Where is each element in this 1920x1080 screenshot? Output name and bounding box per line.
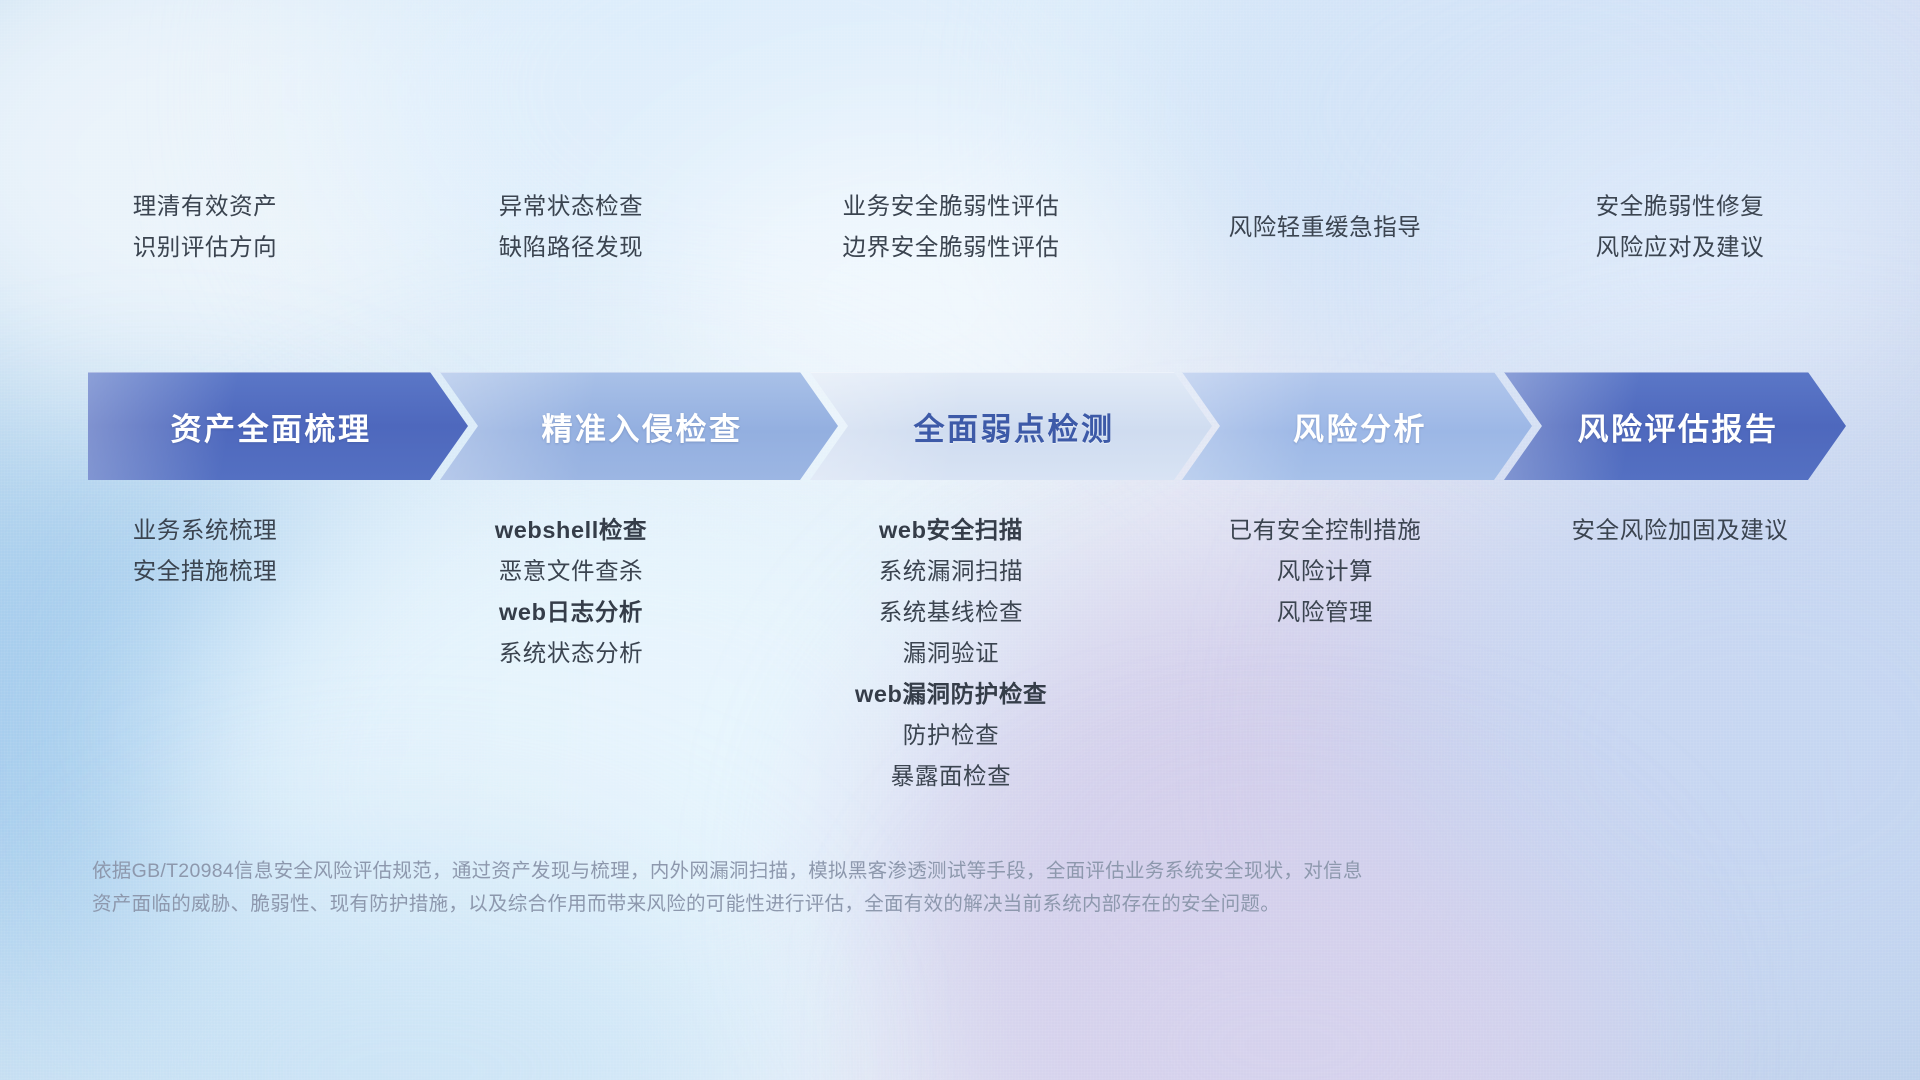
footer-line-2: 资产面临的威胁、脆弱性、现有防护措施，以及综合作用而带来风险的可能性进行评估，全… — [92, 888, 1512, 921]
stage-asset-inventory-detail-item: 业务系统梳理 — [5, 510, 405, 551]
stage-asset-inventory-top-item: 识别评估方向 — [5, 227, 405, 268]
stage-intrusion-check-top-item: 缺陷路径发现 — [371, 227, 771, 268]
footer-description: 依据GB/T20984信息安全风险评估规范，通过资产发现与梳理，内外网漏洞扫描，… — [92, 855, 1512, 921]
stage-asset-inventory-top-item: 理清有效资产 — [5, 186, 405, 227]
stage-weakness-detection-detail-item: 防护检查 — [751, 715, 1151, 756]
stage-risk-analysis-detail-item: 已有安全控制措施 — [1125, 510, 1525, 551]
stage-intrusion-check-detail-column: webshell检查恶意文件查杀web日志分析系统状态分析 — [371, 510, 771, 674]
stage-weakness-detection-detail-column: web安全扫描系统漏洞扫描系统基线检查漏洞验证web漏洞防护检查防护检查暴露面检… — [751, 510, 1151, 797]
stage-risk-report-top-column: 安全脆弱性修复风险应对及建议 — [1480, 186, 1880, 268]
stage-risk-analysis-top-item: 风险轻重缓急指导 — [1125, 207, 1525, 248]
stage-intrusion-check-detail-item: webshell检查 — [371, 510, 771, 551]
stage-risk-report-detail-column: 安全风险加固及建议 — [1480, 510, 1880, 551]
process-stage-label: 风险评估报告 — [1578, 404, 1779, 449]
stage-intrusion-check-detail-item: 系统状态分析 — [371, 633, 771, 674]
stage-weakness-detection-detail-item: 暴露面检查 — [751, 756, 1151, 797]
stage-risk-report-detail-item: 安全风险加固及建议 — [1480, 510, 1880, 551]
stage-intrusion-check-detail-item: 恶意文件查杀 — [371, 551, 771, 592]
stage-weakness-detection-detail-item: web安全扫描 — [751, 510, 1151, 551]
process-stage-risk-analysis[interactable]: 风险分析 — [1182, 372, 1532, 480]
stage-risk-analysis-detail-item: 风险管理 — [1125, 592, 1525, 633]
stage-asset-inventory-top-column: 理清有效资产识别评估方向 — [5, 186, 405, 268]
process-banner: 资产全面梳理精准入侵检查全面弱点检测风险分析风险评估报告 — [88, 372, 1846, 480]
stage-weakness-detection-detail-item: 漏洞验证 — [751, 633, 1151, 674]
stage-risk-report-top-item: 风险应对及建议 — [1480, 227, 1880, 268]
stage-intrusion-check-top-column: 异常状态检查缺陷路径发现 — [371, 186, 771, 268]
process-stage-risk-report[interactable]: 风险评估报告 — [1504, 372, 1846, 480]
process-stage-asset-inventory[interactable]: 资产全面梳理 — [88, 372, 468, 480]
stage-weakness-detection-top-column: 业务安全脆弱性评估边界安全脆弱性评估 — [751, 186, 1151, 268]
stage-intrusion-check-top-item: 异常状态检查 — [371, 186, 771, 227]
process-diagram: 理清有效资产识别评估方向异常状态检查缺陷路径发现业务安全脆弱性评估边界安全脆弱性… — [0, 0, 1920, 1080]
process-stage-weakness-detection[interactable]: 全面弱点检测 — [810, 372, 1212, 480]
stage-risk-analysis-detail-item: 风险计算 — [1125, 551, 1525, 592]
process-stage-label: 风险分析 — [1293, 404, 1427, 449]
process-stage-intrusion-check[interactable]: 精准入侵检查 — [440, 372, 838, 480]
stage-weakness-detection-detail-item: 系统漏洞扫描 — [751, 551, 1151, 592]
stage-asset-inventory-detail-item: 安全措施梳理 — [5, 551, 405, 592]
stage-risk-analysis-detail-column: 已有安全控制措施风险计算风险管理 — [1125, 510, 1525, 633]
stage-top-labels-row: 理清有效资产识别评估方向异常状态检查缺陷路径发现业务安全脆弱性评估边界安全脆弱性… — [90, 186, 1830, 286]
stage-intrusion-check-detail-item: web日志分析 — [371, 592, 771, 633]
process-stage-label: 资产全面梳理 — [171, 404, 372, 449]
stage-risk-report-top-item: 安全脆弱性修复 — [1480, 186, 1880, 227]
process-stage-label: 精准入侵检查 — [542, 404, 743, 449]
stage-weakness-detection-top-item: 边界安全脆弱性评估 — [751, 227, 1151, 268]
process-stage-label: 全面弱点检测 — [914, 404, 1115, 449]
stage-bottom-lists-row: 业务系统梳理安全措施梳理webshell检查恶意文件查杀web日志分析系统状态分… — [90, 510, 1830, 710]
stage-weakness-detection-detail-item: web漏洞防护检查 — [751, 674, 1151, 715]
stage-risk-analysis-top-column: 风险轻重缓急指导 — [1125, 207, 1525, 248]
footer-line-1: 依据GB/T20984信息安全风险评估规范，通过资产发现与梳理，内外网漏洞扫描，… — [92, 855, 1512, 888]
stage-weakness-detection-top-item: 业务安全脆弱性评估 — [751, 186, 1151, 227]
stage-weakness-detection-detail-item: 系统基线检查 — [751, 592, 1151, 633]
stage-asset-inventory-detail-column: 业务系统梳理安全措施梳理 — [5, 510, 405, 592]
